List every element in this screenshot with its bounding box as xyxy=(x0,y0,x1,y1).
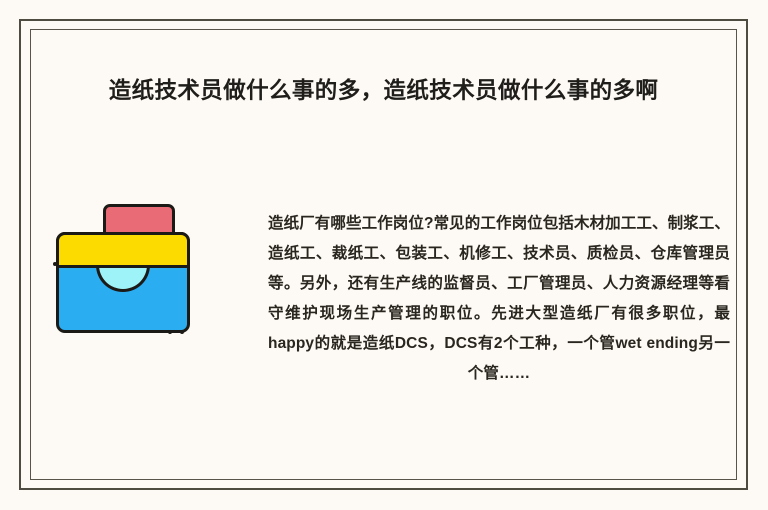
toolbox-latch-icon xyxy=(96,265,150,292)
toolbox-band-icon xyxy=(56,232,190,268)
toolbox-speck-bottom-a-icon xyxy=(168,330,172,334)
toolbox-illustration xyxy=(53,204,193,336)
article-body: 造纸厂有哪些工作岗位?常见的工作岗位包括木材加工工、制浆工、造纸工、裁纸工、包装… xyxy=(268,209,730,389)
article-page: 造纸技术员做什么事的多，造纸技术员做什么事的多啊 造纸厂有哪些工作岗位?常见的工… xyxy=(0,0,768,510)
page-title: 造纸技术员做什么事的多，造纸技术员做什么事的多啊 xyxy=(30,76,737,106)
toolbox-speck-bottom-b-icon xyxy=(180,330,184,334)
